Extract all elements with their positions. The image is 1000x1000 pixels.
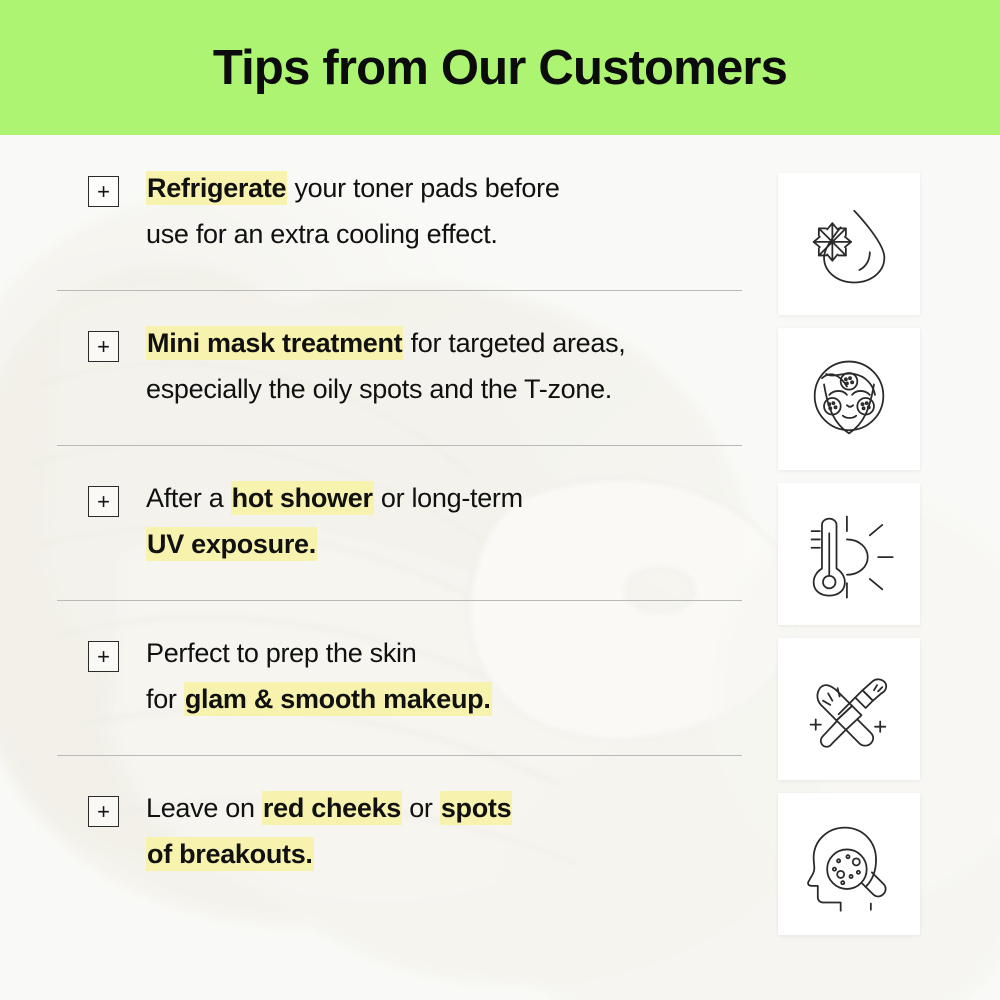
tip-plain-pre: for — [146, 684, 184, 714]
tip-highlight-b: spots — [440, 791, 513, 825]
tip-line2: use for an extra cooling effect. — [146, 219, 498, 249]
tip-plain-post: or long-term — [374, 483, 523, 513]
page-header: Tips from Our Customers — [0, 0, 1000, 135]
tip-row[interactable]: + After a hot shower or long-term UV exp… — [0, 445, 760, 600]
tip-plain: for targeted areas, — [403, 328, 625, 358]
tip-plain-pre: Leave on — [146, 793, 262, 823]
tips-infographic-page: Tips from Our Customers + Refrigerate yo… — [0, 0, 1000, 1000]
tip-plain: your toner pads before — [287, 173, 559, 203]
tip-row[interactable]: + Refrigerate your toner pads before use… — [0, 135, 760, 290]
tip-text: Leave on red cheeks or spots of breakout… — [146, 785, 512, 878]
tip-row[interactable]: + Mini mask treatment for targeted areas… — [0, 290, 760, 445]
face-mask-patches-icon — [797, 347, 901, 451]
tip-highlight-line2: UV exposure. — [146, 527, 317, 561]
tips-list: + Refrigerate your toner pads before use… — [0, 135, 760, 915]
head-magnifier-skin-icon — [797, 812, 901, 916]
tip-text: Mini mask treatment for targeted areas, … — [146, 320, 626, 413]
tip-row[interactable]: + Perfect to prep the skin for glam & sm… — [0, 600, 760, 755]
tip-highlight-line2: glam & smooth makeup. — [184, 682, 492, 716]
tip-highlight-line2: of breakouts. — [146, 837, 314, 871]
plus-marker-icon[interactable]: + — [88, 796, 119, 827]
icon-card — [778, 638, 920, 780]
plus-marker-icon[interactable]: + — [88, 641, 119, 672]
tip-plain-pre: After a — [146, 483, 231, 513]
icon-card — [778, 483, 920, 625]
tip-highlight-a: red cheeks — [262, 791, 402, 825]
icon-card — [778, 328, 920, 470]
tip-line2: especially the oily spots and the T-zone… — [146, 374, 612, 404]
icon-card — [778, 793, 920, 935]
makeup-brushes-icon — [797, 657, 901, 761]
page-title: Tips from Our Customers — [213, 40, 787, 96]
tip-plain-mid: or — [402, 793, 440, 823]
tip-line1: Perfect to prep the skin — [146, 638, 416, 668]
tip-highlight: Refrigerate — [146, 171, 287, 205]
tip-text: Perfect to prep the skin for glam & smoo… — [146, 630, 492, 723]
tip-highlight: hot shower — [231, 481, 374, 515]
tip-text: After a hot shower or long-term UV expos… — [146, 475, 523, 568]
tip-highlight: Mini mask treatment — [146, 326, 403, 360]
icon-card-column — [778, 173, 920, 948]
plus-marker-icon[interactable]: + — [88, 486, 119, 517]
plus-marker-icon[interactable]: + — [88, 331, 119, 362]
thermometer-sun-icon — [797, 502, 901, 606]
icon-card — [778, 173, 920, 315]
plus-marker-icon[interactable]: + — [88, 176, 119, 207]
snowflake-droplet-icon — [797, 192, 901, 296]
tip-row[interactable]: + Leave on red cheeks or spots of breako… — [0, 755, 760, 915]
tip-text: Refrigerate your toner pads before use f… — [146, 165, 560, 258]
